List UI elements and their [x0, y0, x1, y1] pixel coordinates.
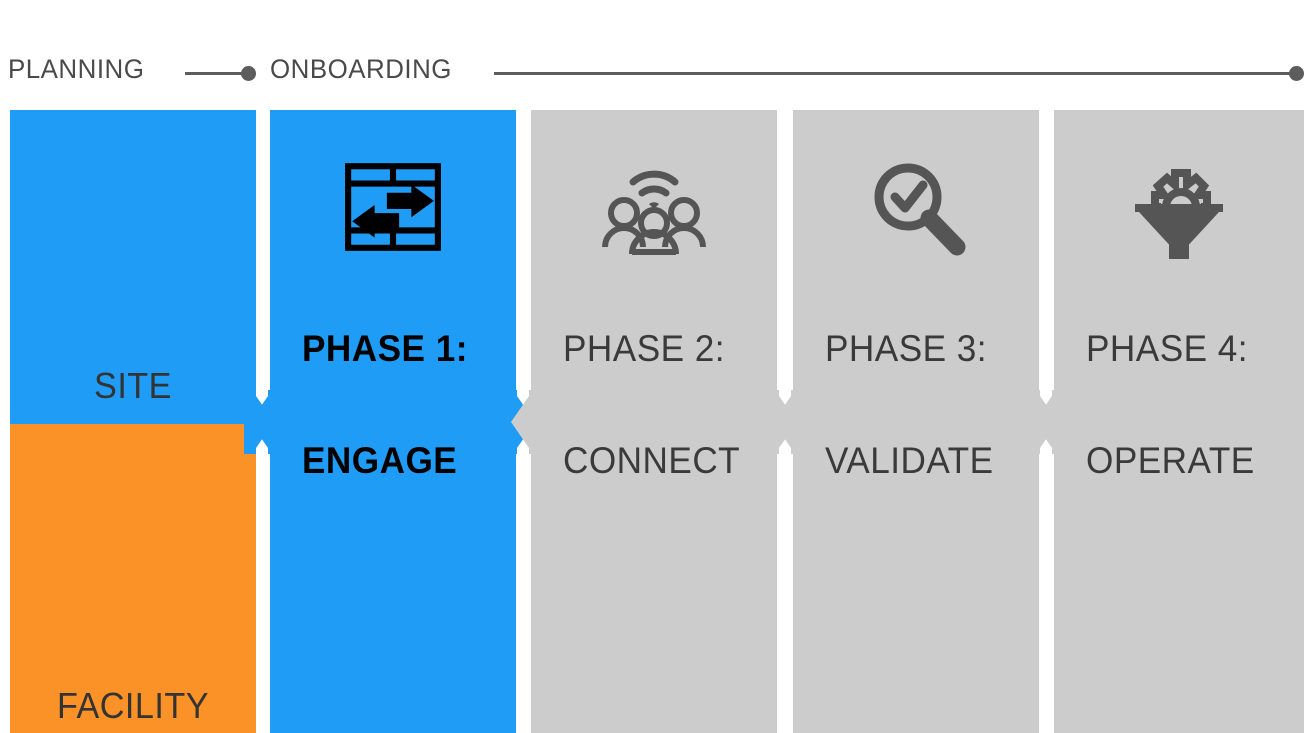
phase-1-title: PHASE 1:: [302, 328, 468, 370]
planning-site-label: SITE: [16, 365, 250, 407]
phase-card-2[interactable]: PHASE 2: CONNECT: [531, 110, 777, 733]
phase-2-name: CONNECT: [563, 440, 740, 482]
timeline-connector-line-2: [494, 72, 1294, 75]
exchange-transfer-icon: [270, 152, 516, 262]
timeline-dot-onboarding-end: [1289, 66, 1304, 81]
phase-card-3[interactable]: PHASE 3: VALIDATE: [793, 110, 1039, 733]
planning-facility-label: FACILITY: [16, 685, 250, 727]
timeline-connector-line-1: [185, 72, 247, 75]
phase-4-name: OPERATE: [1086, 440, 1255, 482]
phase-2-title: PHASE 2:: [563, 328, 725, 370]
process-phases-diagram: PLANNING ONBOARDING SITE FACILITY PHASE …: [0, 0, 1304, 733]
magnifier-check-icon: [793, 152, 1039, 262]
gear-funnel-icon: [1054, 152, 1304, 262]
timeline-dot-planning: [241, 66, 256, 81]
timeline-stage-planning: PLANNING: [8, 52, 144, 86]
phase-3-name: VALIDATE: [825, 440, 994, 482]
timeline-stage-onboarding: ONBOARDING: [270, 52, 452, 86]
phase-card-1[interactable]: PHASE 1: ENGAGE: [270, 110, 516, 733]
timeline: PLANNING ONBOARDING: [0, 52, 1304, 96]
planning-column[interactable]: SITE FACILITY: [10, 110, 256, 733]
phase-4-title: PHASE 4:: [1086, 328, 1248, 370]
people-wifi-icon: [531, 152, 777, 262]
phase-1-name: ENGAGE: [302, 440, 457, 482]
phase-card-4[interactable]: PHASE 4: OPERATE: [1054, 110, 1304, 733]
phase-3-title: PHASE 3:: [825, 328, 987, 370]
